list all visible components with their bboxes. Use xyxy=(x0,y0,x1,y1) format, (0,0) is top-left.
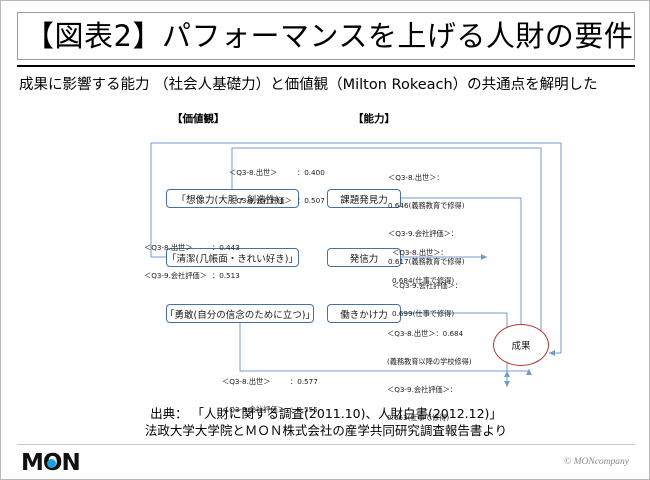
annotation-value: ：0.443 xyxy=(212,243,240,252)
diagram-area: 【価値観】 【能力】 「想像力(大胆・創造性)」 「清潔(几帳面・きれい好き)」… xyxy=(1,105,650,395)
title-divider xyxy=(17,65,635,67)
annotation-value: ：0.577 xyxy=(290,377,318,386)
source-note: 出典： 「人財に関する調査(2011.10)、人財白書(2012.12)」 法政… xyxy=(1,405,650,439)
annotation-line: ＜Q3-9.会社評価＞： xyxy=(387,385,472,394)
annotation-line: ＜Q3-9.会社評価＞： xyxy=(392,281,462,290)
annotation-key: ＜Q3-8.出世＞ xyxy=(144,243,212,252)
outcome-node[interactable]: 成果 xyxy=(493,324,549,366)
annotation-imagination: ＜Q3-8.出世＞：0.400 ＜Q3-9.会社評価＞：0.507 xyxy=(229,149,325,224)
annotation-key: ＜Q3-9.会社評価＞ xyxy=(229,196,297,205)
annotation-value: ：0.400 xyxy=(297,168,325,177)
column-header-abilities: 【能力】 xyxy=(353,111,395,126)
annotation-value: ：0.507 xyxy=(297,196,325,205)
slide-canvas: 【図表2】パフォーマンスを上げる人財の要件 成果に影響する能力 （社会人基礎力）… xyxy=(0,0,650,480)
annotation-key: ＜Q3-8.出世＞ xyxy=(222,377,290,386)
page-title: 【図表2】パフォーマンスを上げる人財の要件 xyxy=(18,22,633,51)
annotation-line: 0.646(義務教育で修得) xyxy=(388,201,465,210)
annotation-line: ＜Q3-8.出世＞： xyxy=(388,173,465,182)
copyright-text: © MONcompany xyxy=(564,457,629,467)
footer-divider xyxy=(17,444,635,445)
annotation-line: ＜Q3-8.出世＞： xyxy=(392,248,454,257)
source-line-2: 法政大学大学院とＭＯＮ株式会社の産学共同研究調査報告書より xyxy=(1,422,650,439)
annotation-key: ＜Q3-9.会社評価＞ xyxy=(144,271,212,280)
value-node-bravery[interactable]: 「勇敢(自分の信念のために立つ)」 xyxy=(166,304,314,323)
source-line-1: 出典： 「人財に関する調査(2011.10)、人財白書(2012.12)」 xyxy=(1,405,650,422)
annotation-line: ＜Q3-8.出世＞：0.684 xyxy=(387,329,472,338)
column-header-values: 【価値観】 xyxy=(172,111,225,126)
logo-dot-icon xyxy=(47,459,56,468)
connector-lines xyxy=(1,105,650,395)
title-box: 【図表2】パフォーマンスを上げる人財の要件 xyxy=(17,12,635,60)
annotation-key: ＜Q3-8.出世＞ xyxy=(229,168,297,177)
mon-logo: MON xyxy=(21,451,80,475)
annotation-cleanliness: ＜Q3-8.出世＞：0.443 ＜Q3-9.会社評価＞：0.513 xyxy=(144,224,240,299)
annotation-value: ：0.513 xyxy=(212,271,240,280)
annotation-line: (義務教育以降の学校修得) xyxy=(387,357,472,366)
subtitle: 成果に影響する能力 （社会人基礎力）と価値観（Milton Rokeach）の共… xyxy=(19,75,639,95)
